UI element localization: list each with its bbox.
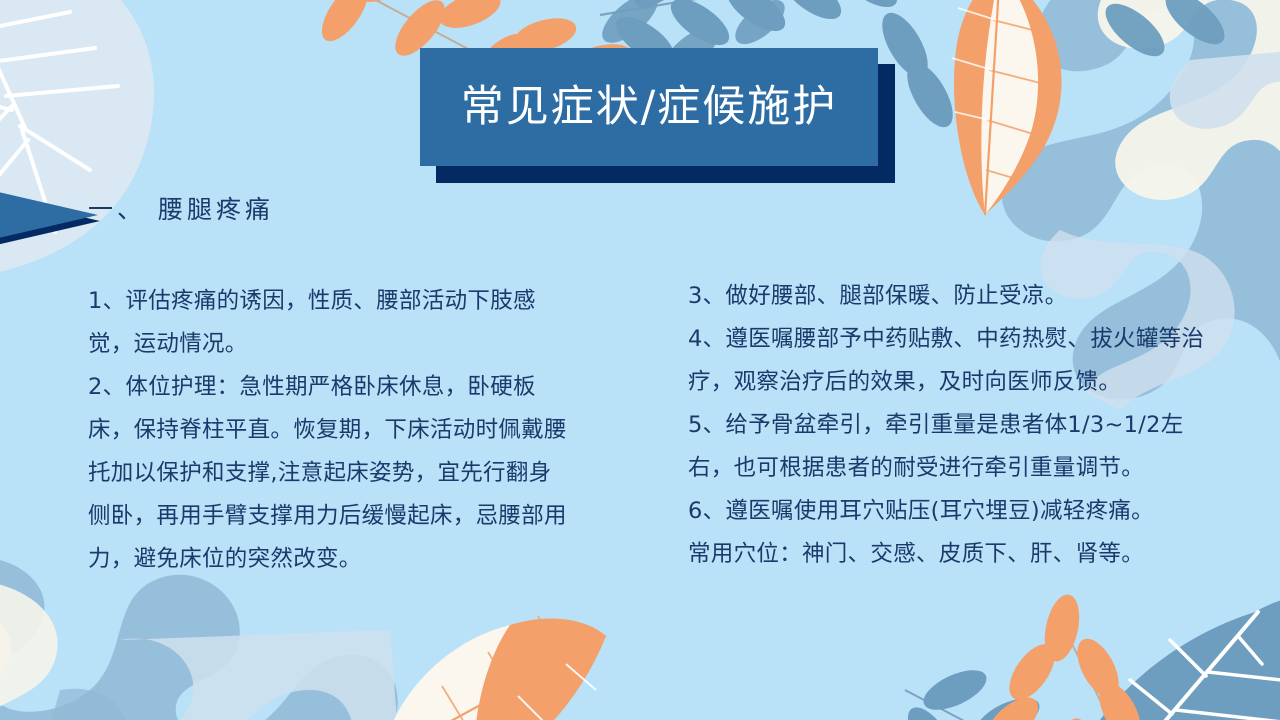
- body-column-left: 1、评估疼痛的诱因，性质、腰部活动下肢感觉，运动情况。 2、体位护理：急性期严格…: [88, 280, 573, 581]
- paragraph: 常用穴位：神门、交感、皮质下、肝、肾等。: [688, 533, 1208, 576]
- arrow-right-icon: [0, 178, 98, 252]
- paragraph: 1、评估疼痛的诱因，性质、腰部活动下肢感觉，运动情况。: [88, 280, 573, 366]
- page-title: 常见症状/症候施护: [461, 86, 838, 129]
- presentation-slide: 常见症状/症候施护 一、 腰腿疼痛 1、评估疼痛的诱因，性质、腰部活动下肢感觉，…: [0, 0, 1280, 720]
- section-heading: 一、 腰腿疼痛: [88, 190, 274, 226]
- title-box: 常见症状/症候施护: [420, 48, 878, 166]
- paragraph: 3、做好腰部、腿部保暖、防止受凉。: [688, 275, 1208, 318]
- leaf-orange-cream-top-right: [952, 0, 1062, 215]
- paragraph: 6、遵医嘱使用耳穴贴压(耳穴埋豆)减轻疼痛。: [688, 490, 1208, 533]
- leaf-blue-bottom-right: [1060, 596, 1280, 720]
- branch-blue-bottom-right: [899, 662, 1115, 720]
- body-column-right: 3、做好腰部、腿部保暖、防止受凉。 4、遵医嘱腰部予中药贴敷、中药热熨、拔火罐等…: [688, 275, 1208, 576]
- section-heading-block: 一、 腰腿疼痛: [0, 176, 420, 256]
- slide-title-block: 常见症状/症候施护: [420, 48, 895, 183]
- branch-orange-bottom-right: [966, 591, 1172, 720]
- wave-shape-bottom-left: [0, 557, 400, 720]
- paragraph: 5、给予骨盆牵引，牵引重量是患者体1/3~1/2左右，也可根据患者的耐受进行牵引…: [688, 404, 1208, 490]
- paragraph: 2、体位护理：急性期严格卧床休息，卧硬板床，保持脊柱平直。恢复期，下床活动时佩戴…: [88, 366, 573, 581]
- leaf-orange-cream-bottom-left: [380, 616, 606, 720]
- paragraph: 4、遵医嘱腰部予中药贴敷、中药热熨、拔火罐等治疗，观察治疗后的效果，及时向医师反…: [688, 318, 1208, 404]
